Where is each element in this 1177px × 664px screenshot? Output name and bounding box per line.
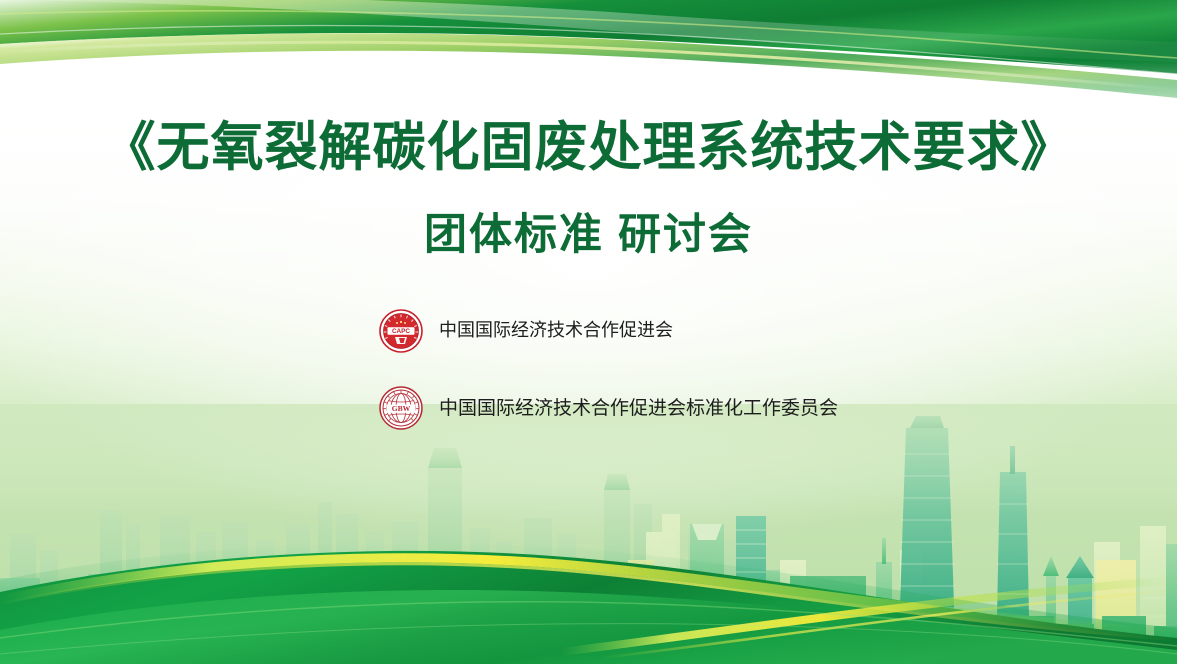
capc-seal-icon: CAPC — [378, 308, 424, 354]
gbw-seal-icon: GBW — [378, 385, 424, 431]
organization-label-gbw: 中国国际经济技术合作促进会标准化工作委员会 — [439, 397, 838, 419]
svg-text:GBW: GBW — [392, 404, 411, 413]
organization-label-capc: 中国国际经济技术合作促进会 — [439, 320, 673, 342]
slide-content: 《无氧裂解碳化固废处理系统技术要求》 团体标准 研讨会 — [0, 0, 1177, 664]
page-title: 《无氧裂解碳化固废处理系统技术要求》 — [0, 117, 1177, 179]
organization-row-capc: CAPC 中国国际经济技术合作促进会 — [378, 308, 673, 354]
organization-row-gbw: GBW 中国国际经济技术合作促进会标准化工作委员会 — [378, 385, 838, 431]
page-subtitle: 团体标准 研讨会 — [0, 208, 1177, 262]
svg-text:CAPC: CAPC — [392, 328, 410, 335]
title-slide: 《无氧裂解碳化固废处理系统技术要求》 团体标准 研讨会 — [0, 0, 1177, 664]
